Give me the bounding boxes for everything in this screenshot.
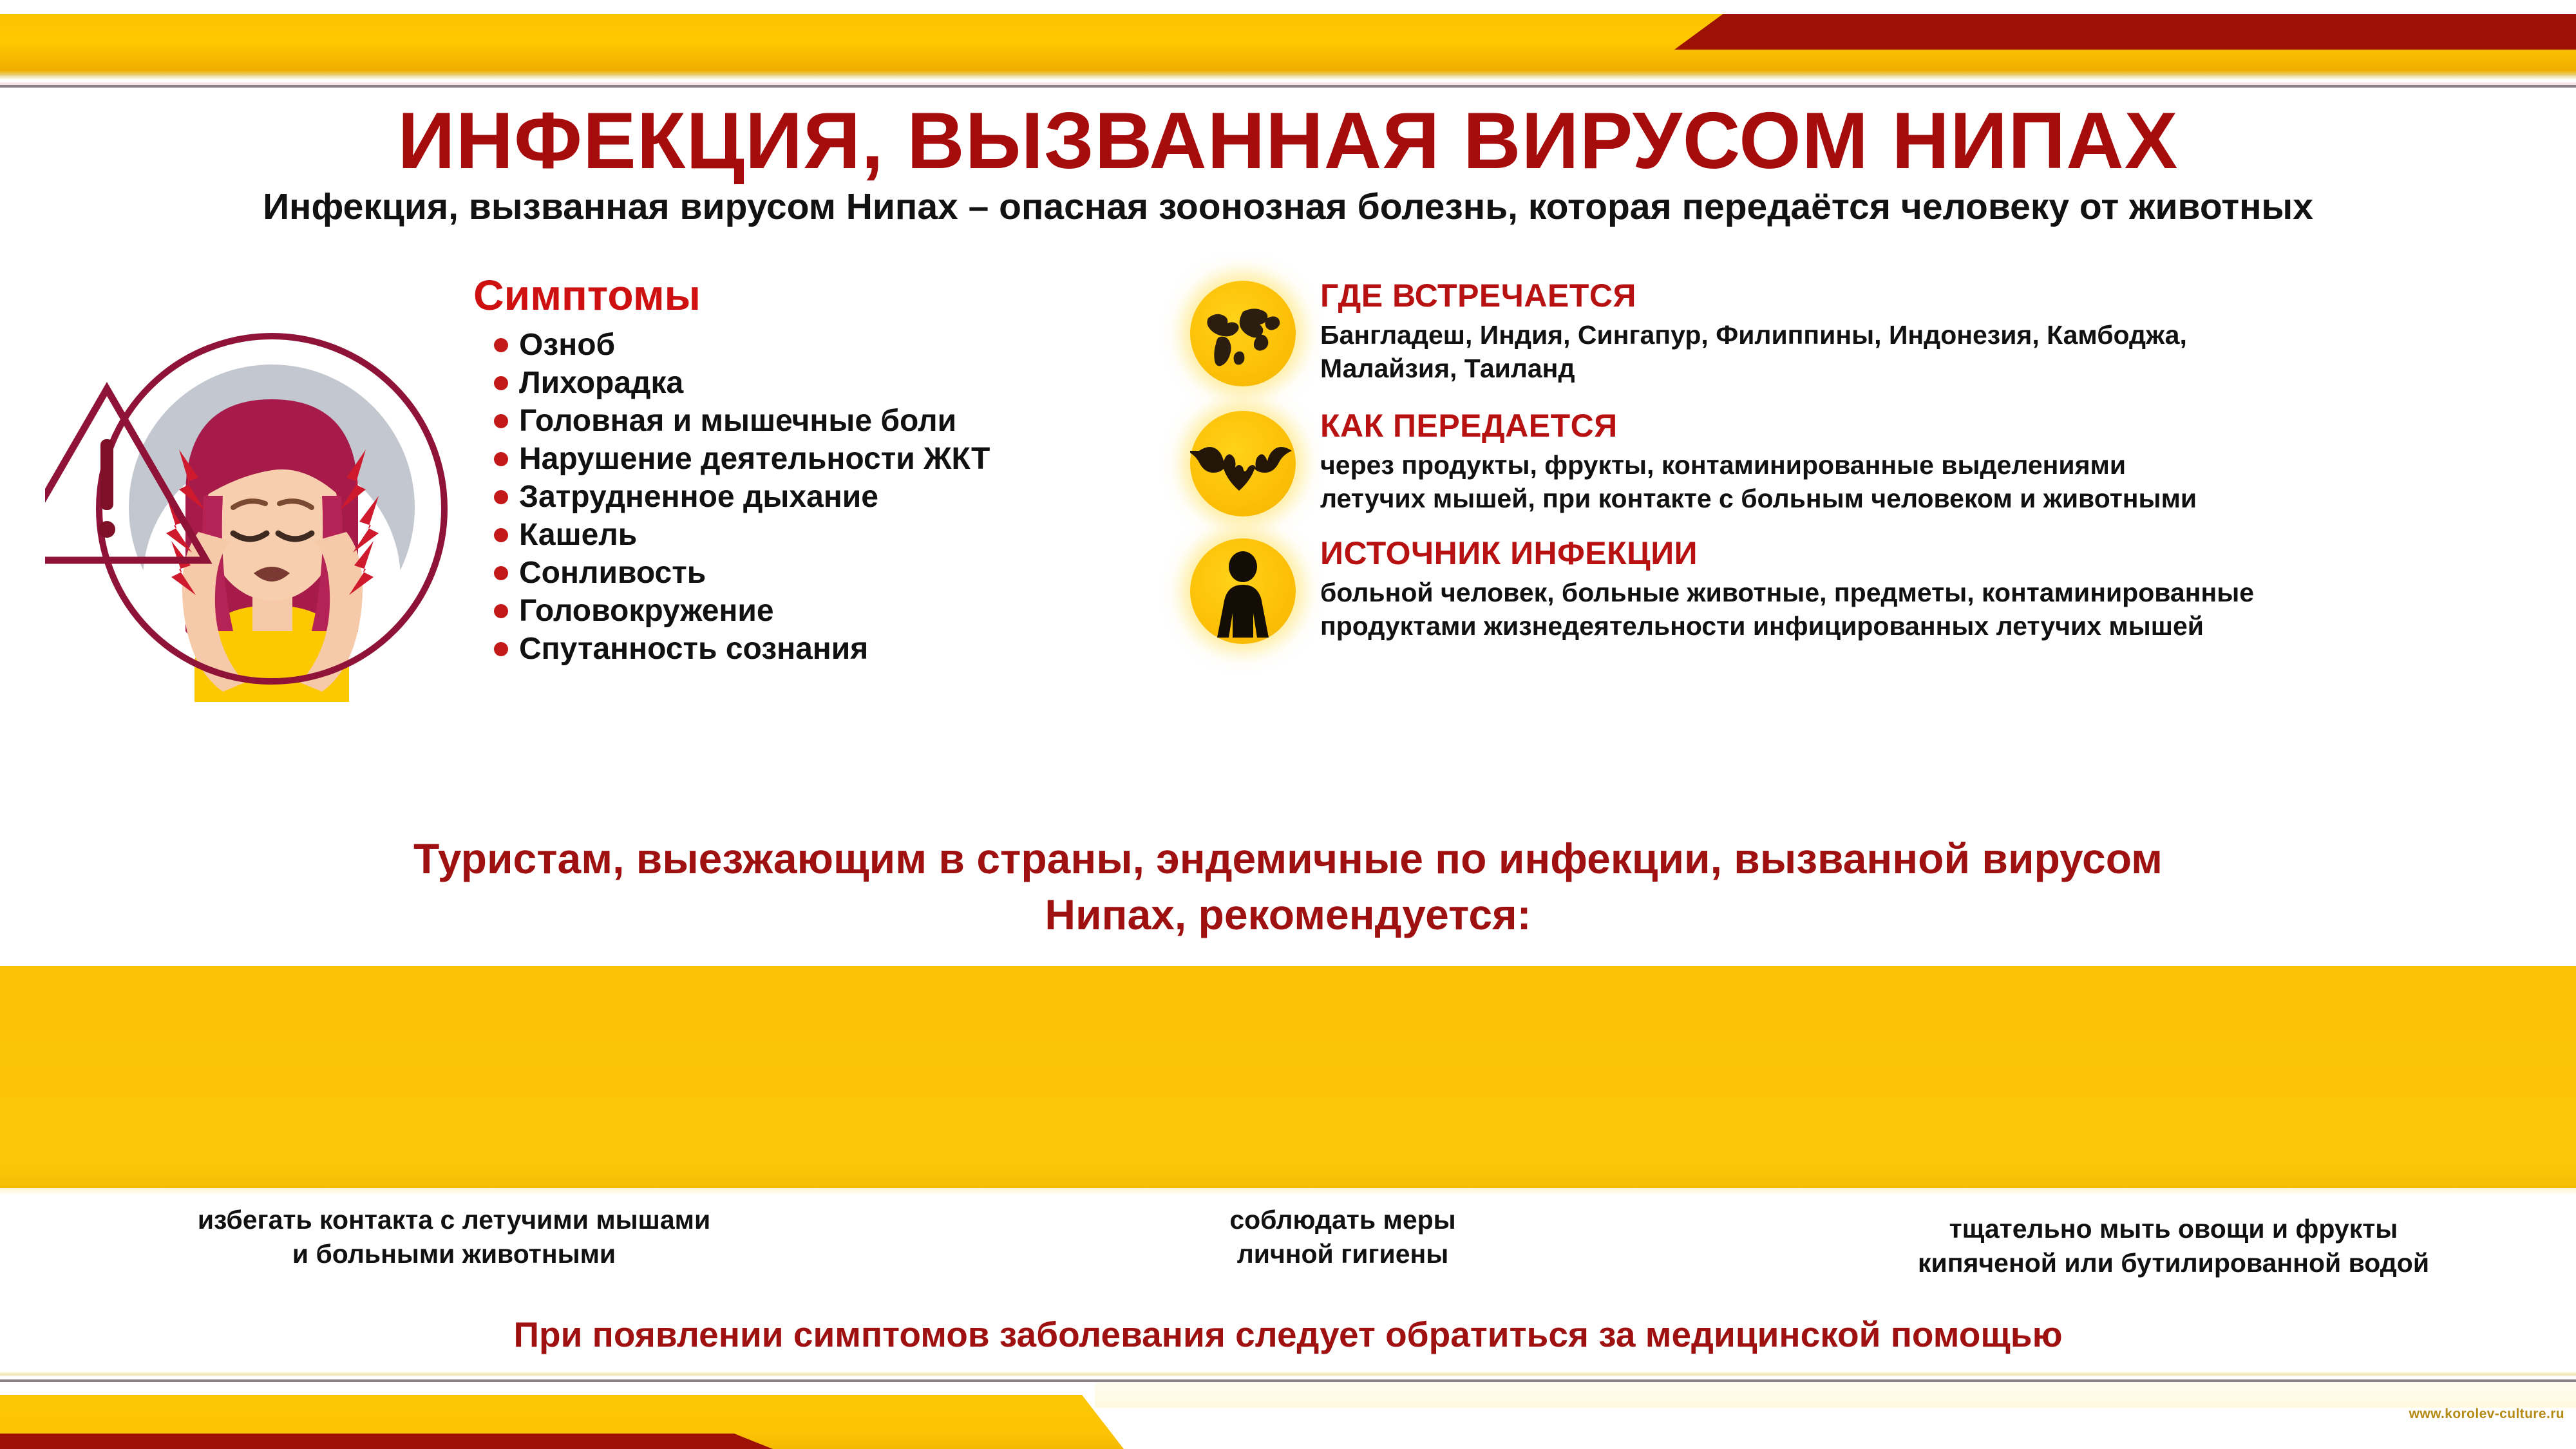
- watermark: www.korolev-culture.ru: [2409, 1406, 2564, 1422]
- bottom-hairline-divider: [0, 1379, 2576, 1382]
- symptom-label: Озноб: [519, 327, 615, 363]
- bottom-right-fade: [1095, 1382, 2576, 1408]
- bullet-dot-icon: [494, 376, 508, 390]
- info-panel: ГДЕ ВСТРЕЧАЕТСЯ Бангладеш, Индия, Сингап…: [1185, 276, 2563, 656]
- footer-note: При появлении симптомов заболевания след…: [0, 1314, 2576, 1355]
- info-line: через продукты, фрукты, контаминированны…: [1320, 448, 2563, 482]
- measures-icons: [0, 966, 2576, 1188]
- info-line: летучих мышей, при контакте с больным че…: [1320, 482, 2563, 515]
- caption-line: личной гигиены: [1069, 1237, 1616, 1271]
- list-item: Озноб: [473, 326, 1092, 364]
- bullet-dot-icon: [494, 452, 508, 466]
- bullet-dot-icon: [494, 566, 508, 580]
- bat-icon: [1190, 411, 1296, 516]
- symptom-label: Головокружение: [519, 593, 774, 629]
- sick-woman-illustration: [45, 303, 457, 715]
- bullet-dot-icon: [494, 338, 508, 352]
- recommendation-line-2: Нипах, рекомендуется:: [0, 887, 2576, 943]
- info-block-source: ИСТОЧНИК ИНФЕКЦИИ больной человек, больн…: [1185, 533, 2563, 649]
- info-block-how: КАК ПЕРЕДАЕТСЯ через продукты, фрукты, к…: [1185, 406, 2563, 522]
- symptom-label: Сонливость: [519, 555, 706, 591]
- bullet-dot-icon: [494, 642, 508, 656]
- info-body: через продукты, фрукты, контаминированны…: [1320, 448, 2563, 516]
- info-text-where: ГДЕ ВСТРЕЧАЕТСЯ Бангладеш, Индия, Сингап…: [1320, 276, 2563, 386]
- band-bottom-fade: [0, 1188, 2576, 1196]
- symptom-label: Лихорадка: [519, 365, 683, 401]
- info-body: Бангладеш, Индия, Сингапур, Филиппины, И…: [1320, 318, 2563, 386]
- bat-badge: [1185, 406, 1301, 522]
- info-text-how: КАК ПЕРЕДАЕТСЯ через продукты, фрукты, к…: [1320, 406, 2563, 516]
- info-heading: ГДЕ ВСТРЕЧАЕТСЯ: [1320, 277, 2563, 314]
- symptom-label: Головная и мышечные боли: [519, 403, 956, 439]
- bullet-dot-icon: [494, 528, 508, 542]
- list-item: Сонливость: [473, 554, 1092, 592]
- symptoms-list: Озноб Лихорадка Головная и мышечные боли…: [473, 326, 1092, 668]
- caption-line: и больными животными: [90, 1237, 818, 1271]
- world-map-icon: [1190, 281, 1296, 386]
- page-title: ИНФЕКЦИЯ, ВЫЗВАННАЯ ВИРУСОМ НИПАХ: [0, 95, 2576, 187]
- list-item: Лихорадка: [473, 364, 1092, 402]
- info-body: больной человек, больные животные, предм…: [1320, 576, 2563, 643]
- page-subtitle: Инфекция, вызванная вирусом Нипах – опас…: [0, 185, 2576, 228]
- top-decoration: [0, 0, 2576, 90]
- symptom-label: Нарушение деятельности ЖКТ: [519, 441, 990, 477]
- list-item: Спутанность сознания: [473, 630, 1092, 668]
- bullet-dot-icon: [494, 490, 508, 504]
- bottom-gold-line: [0, 1372, 2576, 1376]
- list-item: Кашель: [473, 516, 1092, 554]
- symptoms-panel: Симптомы Озноб Лихорадка Головная и мыше…: [473, 270, 1092, 668]
- bullet-dot-icon: [494, 604, 508, 618]
- info-line: Малайзия, Таиланд: [1320, 352, 2563, 385]
- caption-line: кипяченой или бутилированной водой: [1810, 1246, 2537, 1280]
- symptom-label: Спутанность сознания: [519, 631, 868, 667]
- list-item: Головокружение: [473, 592, 1092, 630]
- list-item: Затрудненное дыхание: [473, 478, 1092, 516]
- measure-caption-3: тщательно мыть овощи и фрукты кипяченой …: [1810, 1212, 2537, 1281]
- caption-line: тщательно мыть овощи и фрукты: [1810, 1212, 2537, 1246]
- top-dark-red-shape: [1674, 14, 2576, 50]
- caption-line: соблюдать меры: [1069, 1203, 1616, 1237]
- list-item: Головная и мышечные боли: [473, 402, 1092, 440]
- person-badge: [1185, 533, 1301, 649]
- bottom-decoration: [0, 1372, 2576, 1449]
- info-text-source: ИСТОЧНИК ИНФЕКЦИИ больной человек, больн…: [1320, 533, 2563, 643]
- info-line: Бангладеш, Индия, Сингапур, Филиппины, И…: [1320, 318, 2563, 352]
- symptom-label: Затрудненное дыхание: [519, 479, 878, 515]
- recommendation-line-1: Туристам, выезжающим в страны, эндемичны…: [0, 831, 2576, 887]
- bullet-dot-icon: [494, 414, 508, 428]
- symptom-label: Кашель: [519, 517, 637, 553]
- symptoms-heading: Симптомы: [473, 270, 1092, 319]
- top-gold-line: [0, 75, 2576, 79]
- poster-root: ИНФЕКЦИЯ, ВЫЗВАННАЯ ВИРУСОМ НИПАХ Инфекц…: [0, 0, 2576, 1449]
- info-line: больной человек, больные животные, предм…: [1320, 576, 2563, 609]
- person-icon: [1190, 538, 1296, 644]
- measure-caption-1: избегать контакта с летучими мышами и бо…: [90, 1203, 818, 1272]
- caption-line: избегать контакта с летучими мышами: [90, 1203, 818, 1237]
- info-heading: ИСТОЧНИК ИНФЕКЦИИ: [1320, 535, 2563, 572]
- world-map-badge: [1185, 276, 1301, 392]
- measure-caption-2: соблюдать меры личной гигиены: [1069, 1203, 1616, 1272]
- recommendation-heading: Туристам, выезжающим в страны, эндемичны…: [0, 831, 2576, 943]
- bottom-dark-red-shape: [0, 1434, 773, 1449]
- info-line: продуктами жизнедеятельности инфицирован…: [1320, 609, 2563, 643]
- info-block-where: ГДЕ ВСТРЕЧАЕТСЯ Бангладеш, Индия, Сингап…: [1185, 276, 2563, 392]
- list-item: Нарушение деятельности ЖКТ: [473, 440, 1092, 478]
- info-heading: КАК ПЕРЕДАЕТСЯ: [1320, 407, 2563, 444]
- top-hairline-divider: [0, 85, 2576, 88]
